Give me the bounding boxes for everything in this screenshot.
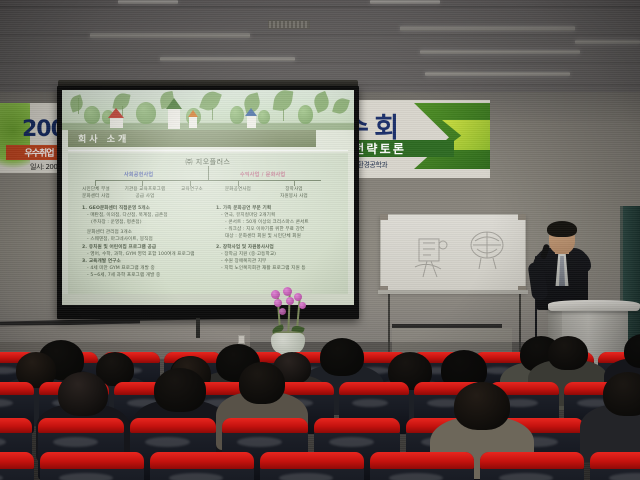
audience-head [548, 336, 588, 370]
seat-headrest [260, 452, 364, 469]
seat-headrest [222, 418, 308, 433]
auditorium-seat[interactable] [590, 452, 640, 480]
seat-highlight [237, 437, 282, 447]
ceiling-vent [268, 20, 310, 29]
org-group-label-social: 사회공헌사업 [124, 171, 153, 178]
slide-bullet: 1. 가족 문화공연 부문 기획 [216, 205, 346, 212]
org-node: 교육연구소 [172, 187, 212, 194]
ceiling-light [160, 57, 295, 61]
ceiling-light [370, 0, 440, 4]
org-node: 기관용 교육프로그램 공급 사업 [120, 187, 170, 201]
slide-bullet: 2. 유치원 및 어린이집 프로그램 공급 [82, 244, 208, 251]
ceiling-light [118, 0, 178, 4]
seat-headrest [130, 418, 216, 433]
org-node-label: 교육연구소 [181, 187, 203, 192]
slide-left-column: 1. GEO문화센터 직접운영 5개소- 매탄점, 이의점, 다산점, 북계점,… [82, 205, 208, 279]
auditorium-seat[interactable] [370, 452, 474, 480]
slide-bullet: - 영어, 수학, 과학, GYM 영역 포함 100여개 프로그램 [82, 251, 208, 258]
org-node: 문화공연사업 [216, 187, 260, 194]
seat-headrest [40, 452, 144, 469]
auditorium-seat[interactable] [150, 452, 254, 480]
seat-highlight [53, 437, 98, 447]
slide-bullet: 1. GEO문화센터 직접운영 5개소 [82, 205, 208, 212]
slide-bullet: - 연극, 뮤지컬마당 2개기획 [216, 212, 346, 219]
ceiling-light [575, 40, 640, 44]
slide-bullet: - 콘서트 : 50개 이상의 크리스마스 콘서트 [216, 219, 346, 226]
seat-highlight [389, 473, 443, 480]
seat-headrest [339, 382, 409, 395]
slide-bullet: 2. 장학사업 및 자원봉사사업 [216, 244, 346, 251]
whiteboard-sketch-icon [465, 227, 511, 271]
slide-title-band: 회사 소개 [68, 130, 316, 147]
slide-title-underline [68, 150, 348, 151]
seat-headrest [0, 382, 34, 395]
audience-head [154, 368, 206, 412]
ceiling-light [420, 50, 580, 54]
auditorium-seat[interactable] [40, 452, 144, 480]
slide-header-illustration [62, 90, 354, 130]
org-node-label: 장학사업 자원봉사 사업 [280, 187, 308, 199]
auditorium-seat[interactable] [0, 452, 34, 480]
seat-headrest [590, 452, 640, 469]
audience-head [454, 382, 510, 430]
seat-headrest [480, 452, 584, 469]
slide-title: 회사 소개 [78, 132, 129, 145]
audience-head [603, 372, 640, 416]
audience-head [58, 372, 108, 416]
slide-bullet: 문화센터 관리점 3개소 [82, 229, 208, 236]
org-node-label: 문화공연사업 [225, 187, 251, 192]
projection-screen-bottom [62, 294, 354, 305]
seat-highlight [609, 473, 640, 480]
seat-highlight [145, 437, 190, 447]
slide-right-column: 1. 가족 문화공연 부문 기획- 연극, 뮤지컬마당 2개기획- 콘서트 : … [216, 205, 346, 272]
slide-bullet: - 스웨덴점, 마그네사이트, 봉직점 [82, 236, 208, 243]
whiteboard-tray [378, 290, 528, 294]
whiteboard [380, 214, 526, 292]
seat-headrest [38, 418, 124, 433]
slide-bullet: - 5~6세, 7세 과학 프로그램 개발 중 [82, 272, 208, 279]
seat-headrest [370, 452, 474, 469]
seat-highlight [59, 473, 113, 480]
presentation-slide: 회사 소개 ㈜ 지오플러스 사회공헌사업 수익사업 / 문화사업 시 [62, 90, 354, 305]
audience-head [239, 362, 285, 404]
slide-bullet: (주차장 : 운영점, 평촌점) [82, 219, 208, 226]
seat-highlight [329, 437, 374, 447]
slide-bullet: 대상 : 문화센터 회원 및 시민단체 회원 [216, 233, 346, 240]
speaker-hair [547, 221, 577, 237]
slide-bullet: - 장학금 지원 (중·고등학교) [216, 251, 346, 258]
slide-bullet: - 수원 장애복지관 지부 [216, 258, 346, 265]
slide-bullet: - 4세 미만 GYM 프로그램 개발 중 [82, 265, 208, 272]
whiteboard-clip [518, 214, 526, 220]
auditorium-seat[interactable] [480, 452, 584, 480]
seat-headrest [314, 418, 400, 433]
ceiling-light [400, 26, 575, 31]
org-group-label-business: 수익사업 / 문화사업 [240, 171, 285, 178]
slide-bullet: - 지역 노인복지회관 재활 프로그램 지원 등 [216, 265, 346, 272]
projection-screen: 회사 소개 ㈜ 지오플러스 사회공헌사업 수익사업 / 문화사업 시 [62, 90, 354, 305]
org-node-label: 기관용 교육프로그램 공급 사업 [125, 187, 166, 199]
seat-highlight [169, 473, 223, 480]
ceiling-light [90, 33, 250, 38]
slide-bullet: - 매탄점, 이의점, 다산점, 북계점, 금촌점 [82, 212, 208, 219]
org-node: 장학사업 자원봉사 사업 [270, 187, 318, 201]
auditorium-seat[interactable] [260, 452, 364, 480]
podium-top [548, 300, 640, 311]
wall-outlet [238, 335, 245, 344]
whiteboard-clip [380, 214, 388, 220]
projection-screen-pull[interactable] [196, 318, 200, 338]
seat-highlight [279, 473, 333, 480]
org-node-label: 시민단체 부설 문화센터 사업 [82, 187, 110, 199]
slide-bullet: 3. 교육개발 연구소 [82, 258, 208, 265]
auditorium-photo: 200 우수취업 일시: 2009. 수 회 공 전 략 토 론 대학교 환경공… [0, 0, 640, 480]
seat-headrest [150, 452, 254, 469]
whiteboard-sketch-icon [409, 231, 463, 283]
org-node: 시민단체 부설 문화센터 사업 [72, 187, 120, 201]
seat-headrest [0, 418, 32, 433]
slide-body: ㈜ 지오플러스 사회공헌사업 수익사업 / 문화사업 시민단체 부설 문화센터 … [68, 153, 348, 295]
whiteboard-leg [388, 290, 390, 352]
seat-highlight [352, 399, 388, 407]
slide-bullet: - 워크샵 : 지오 이야기를 위한 무료 강연 [216, 226, 346, 233]
ceiling-light [425, 72, 570, 76]
seat-highlight [499, 473, 553, 480]
seat-headrest [0, 452, 34, 469]
